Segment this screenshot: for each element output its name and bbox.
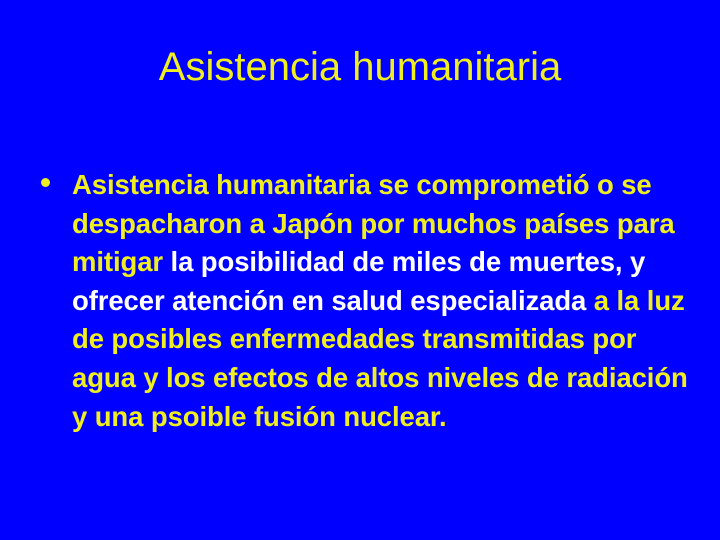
slide-body-placeholder[interactable]: Asistencia humanitaria se comprometió o … (36, 166, 696, 436)
bullet-list-item[interactable]: Asistencia humanitaria se comprometió o … (36, 166, 696, 436)
presentation-slide: Asistencia humanitaria Asistencia humani… (0, 0, 720, 540)
page-title: Asistencia humanitaria (0, 44, 720, 90)
bullet-item-text: Asistencia humanitaria se comprometió o … (36, 166, 696, 436)
bullet-dot-icon (41, 178, 50, 187)
